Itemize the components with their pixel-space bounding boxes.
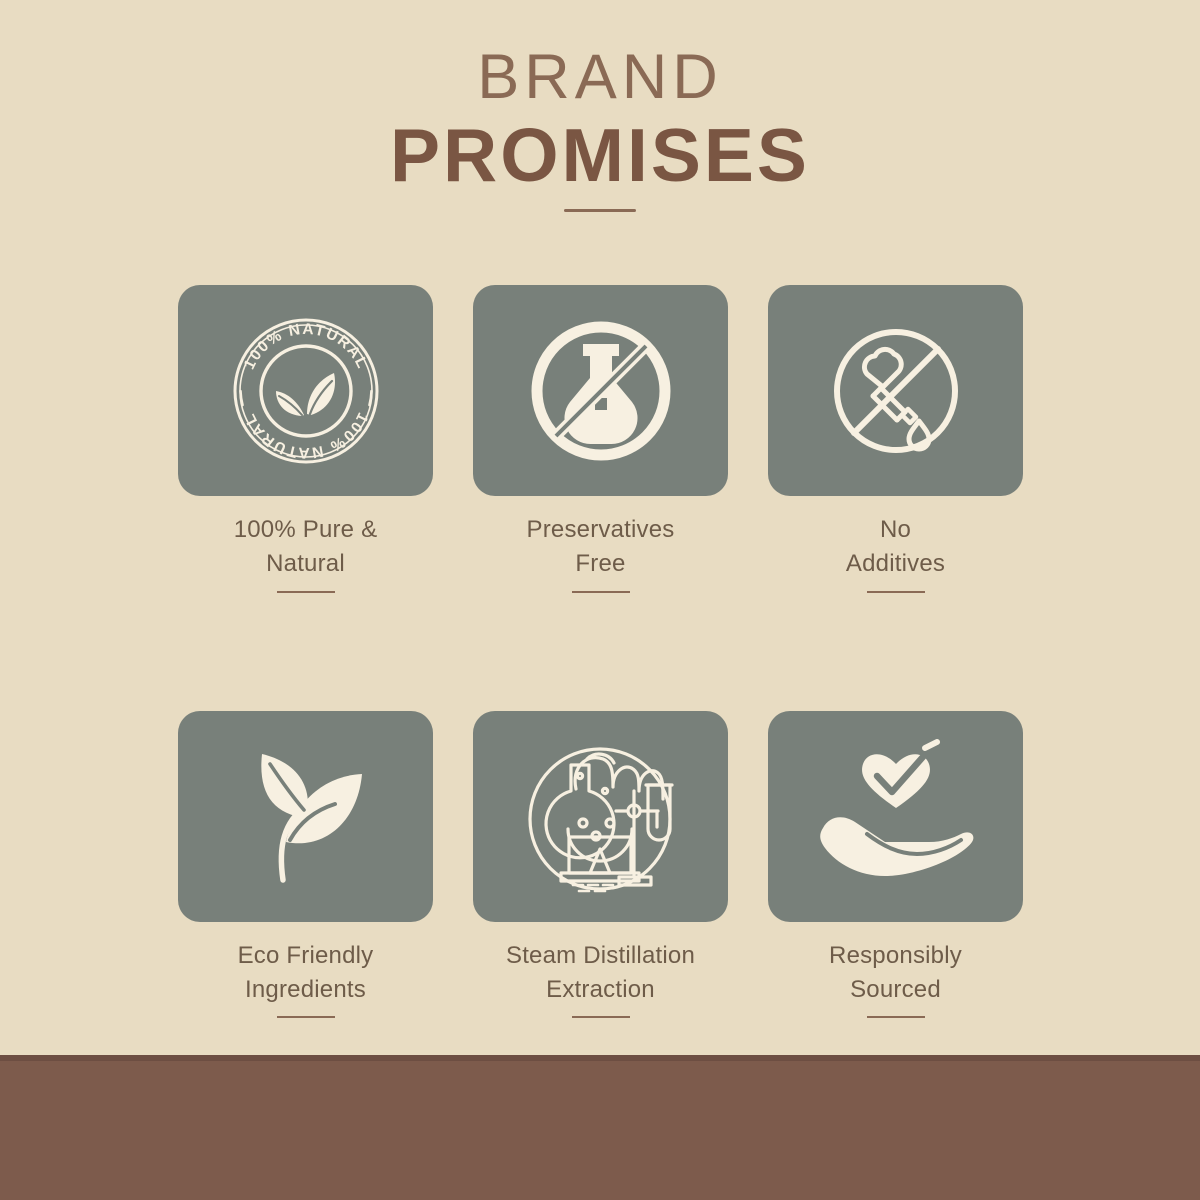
promise-item: Preservatives Free: [473, 285, 728, 593]
promise-caption: Responsibly Sourced: [829, 939, 962, 1008]
bottom-accent-bar: [0, 1055, 1200, 1200]
bottom-accent-bar-edge: [0, 1055, 1200, 1061]
caption-divider: [867, 1016, 925, 1018]
promise-icon-tile: [768, 285, 1023, 496]
no-dropper-icon: [821, 316, 971, 466]
promise-item: 100% NATURAL 100% NATURAL 100% Pure & Na…: [178, 285, 433, 593]
brand-promises-poster: BRAND PROMISES 100% NATURAL: [0, 0, 1200, 1200]
title-divider: [564, 209, 636, 212]
no-flask-icon: [520, 310, 682, 472]
promise-icon-tile: [178, 711, 433, 922]
promises-grid: 100% NATURAL 100% NATURAL 100% Pure & Na…: [178, 285, 1023, 1018]
promise-icon-tile: [768, 711, 1023, 922]
promise-caption: 100% Pure & Natural: [234, 513, 378, 582]
promise-caption: No Additives: [846, 513, 945, 582]
promise-icon-tile: [473, 285, 728, 496]
hand-heart-check-icon: [807, 736, 985, 896]
promise-icon-tile: 100% NATURAL 100% NATURAL: [178, 285, 433, 496]
page-title-top: BRAND: [0, 44, 1200, 110]
poster-header: BRAND PROMISES: [0, 44, 1200, 212]
distillation-apparatus-icon: [513, 729, 688, 904]
caption-divider: [277, 1016, 335, 1018]
promise-item: Steam Distillation Extraction: [473, 711, 728, 1019]
promise-item: Eco Friendly Ingredients: [178, 711, 433, 1019]
page-title-bottom: PROMISES: [0, 116, 1200, 195]
natural-badge-icon: 100% NATURAL 100% NATURAL: [226, 311, 386, 471]
caption-divider: [572, 591, 630, 593]
promise-caption: Preservatives Free: [527, 513, 675, 582]
caption-divider: [867, 591, 925, 593]
caption-divider: [572, 1016, 630, 1018]
promise-item: No Additives: [768, 285, 1023, 593]
two-leaves-icon: [220, 730, 392, 902]
promise-icon-tile: [473, 711, 728, 922]
promise-item: Responsibly Sourced: [768, 711, 1023, 1019]
promise-caption: Steam Distillation Extraction: [506, 939, 695, 1008]
promise-caption: Eco Friendly Ingredients: [238, 939, 374, 1008]
caption-divider: [277, 591, 335, 593]
